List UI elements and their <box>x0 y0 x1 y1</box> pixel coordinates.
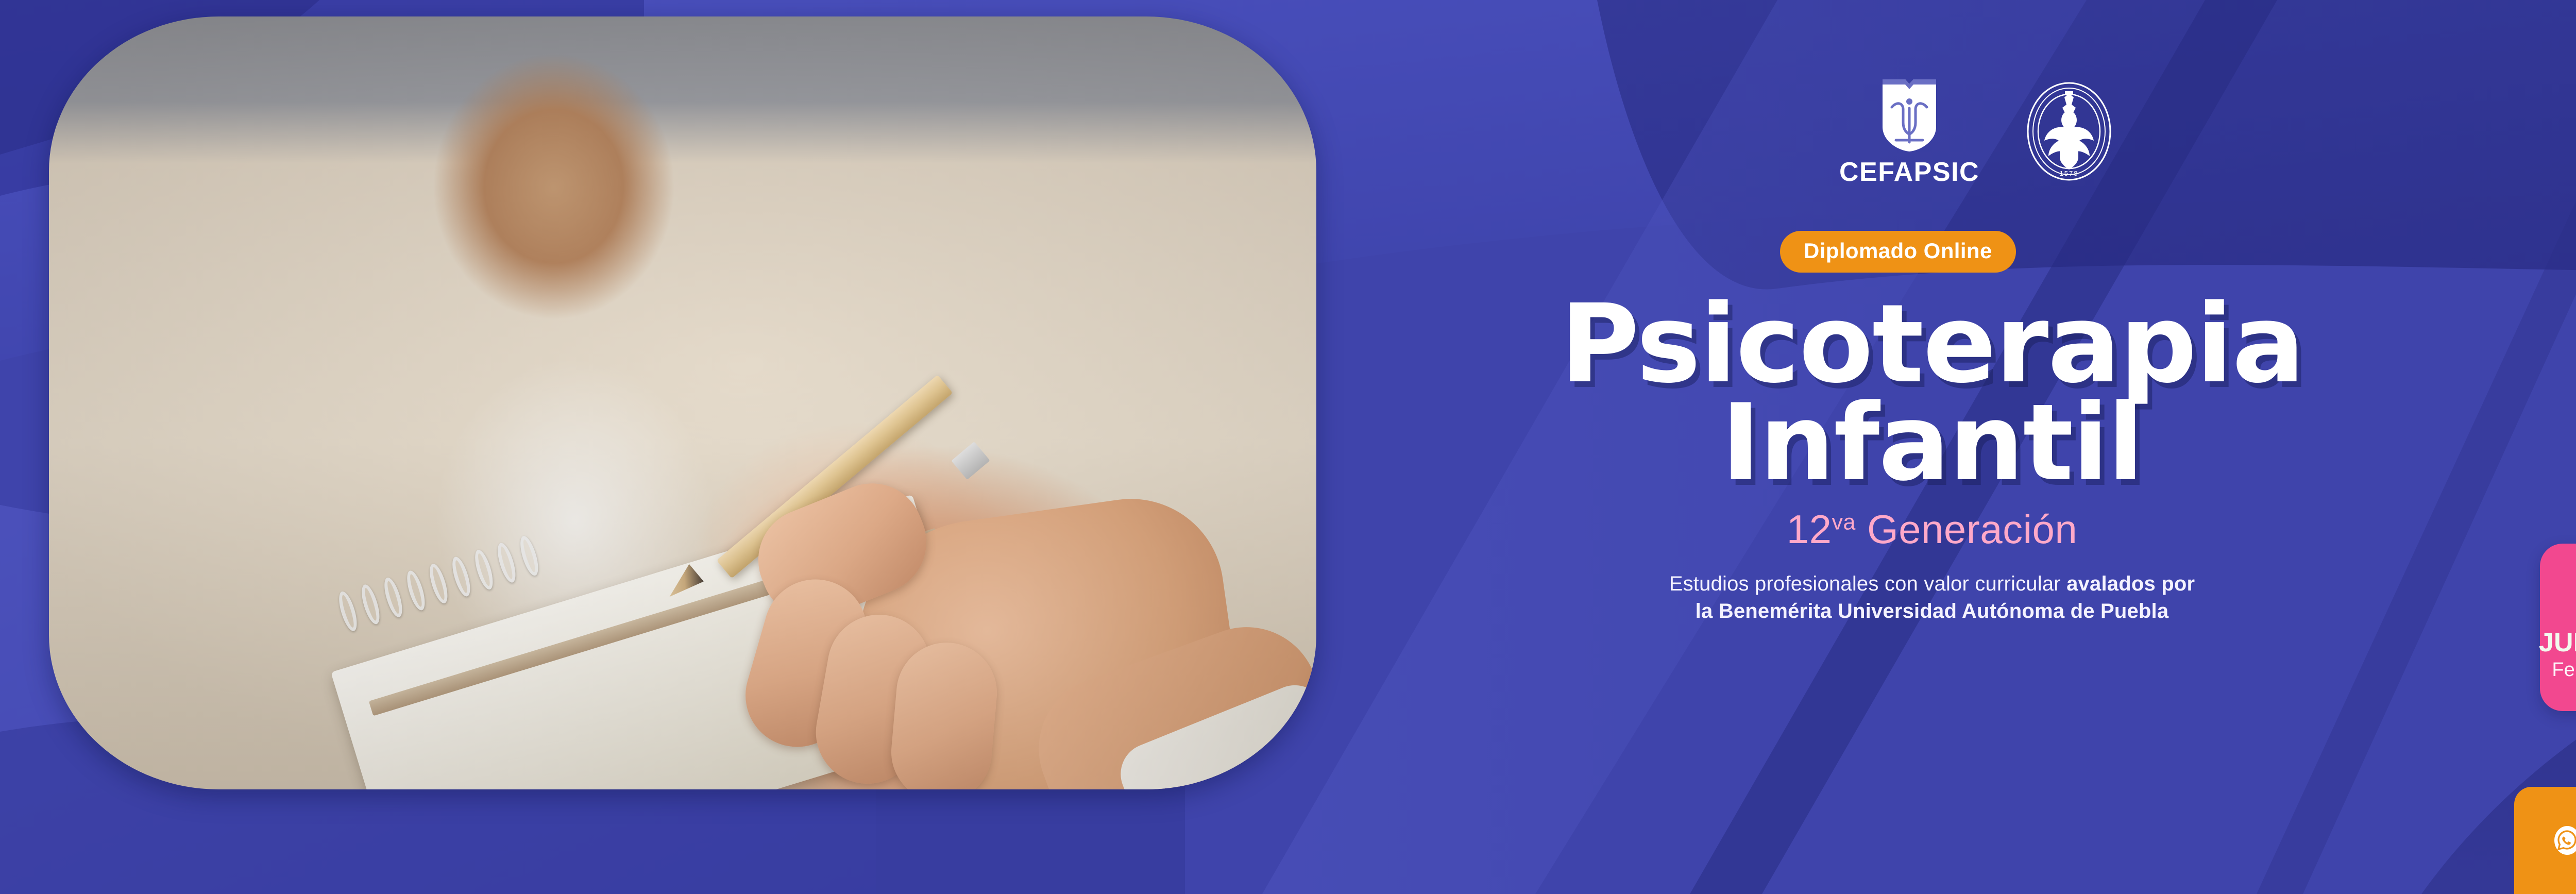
logo-row: CEFAPSIC <box>1839 77 2112 185</box>
contact-whatsapp[interactable]: 56.19.44.14.06 <box>2553 826 2576 854</box>
accreditation-line-1-normal: Estudios profesionales con valor curricu… <box>1669 572 2066 595</box>
photo-vignette <box>49 16 1316 789</box>
course-title-line-1: Psicoterapia <box>1340 294 2524 394</box>
title-block: Psicoterapia Infantil 12va Generación Es… <box>1340 294 2524 625</box>
whatsapp-icon <box>2553 826 2576 854</box>
generation-label: 12va Generación <box>1340 506 2524 553</box>
generation-ordinal-suffix: va <box>1832 510 1856 534</box>
accreditation-note: Estudios profesionales con valor curricu… <box>1340 570 2524 625</box>
svg-text:1578: 1578 <box>2060 170 2079 177</box>
cefapsic-logo[interactable]: CEFAPSIC <box>1839 77 1979 185</box>
buap-seal-logo[interactable]: 1578 <box>2026 81 2112 182</box>
accreditation-line-2-bold: la Benemérita Universidad Autónoma de Pu… <box>1696 600 2169 622</box>
promo-banner: CEFAPSIC <box>0 0 2576 894</box>
contact-bar: 56.19.44.14.06 (222) 621 1771 www.ce <box>2514 787 2576 894</box>
accreditation-line-1: Estudios profesionales con valor curricu… <box>1340 570 2524 598</box>
diplomado-online-badge[interactable]: Diplomado Online <box>1780 231 2016 273</box>
info-card-title: JUEVES 05 <box>2539 627 2576 658</box>
generation-word: Generación <box>1867 507 2077 552</box>
generation-number: 12 <box>1787 507 1832 552</box>
therapy-session-photo <box>49 16 1316 789</box>
cefapsic-wordmark: CEFAPSIC <box>1839 159 1979 185</box>
info-card-subtitle: Febrero 2026 <box>2552 659 2576 681</box>
accreditation-line-2: la Benemérita Universidad Autónoma de Pu… <box>1340 598 2524 625</box>
info-cards: JUEVES 05 Febrero 2026 08 MESES de Durac… <box>2540 544 2576 711</box>
course-title-line-2: Infantil <box>1340 394 2524 493</box>
info-card-start-date[interactable]: JUEVES 05 Febrero 2026 <box>2540 544 2576 711</box>
cefapsic-shield-psi-logo-icon <box>1878 77 1940 154</box>
buap-university-seal-icon: 1578 <box>2026 81 2112 182</box>
accreditation-line-1-bold: avalados por <box>2066 572 2195 595</box>
